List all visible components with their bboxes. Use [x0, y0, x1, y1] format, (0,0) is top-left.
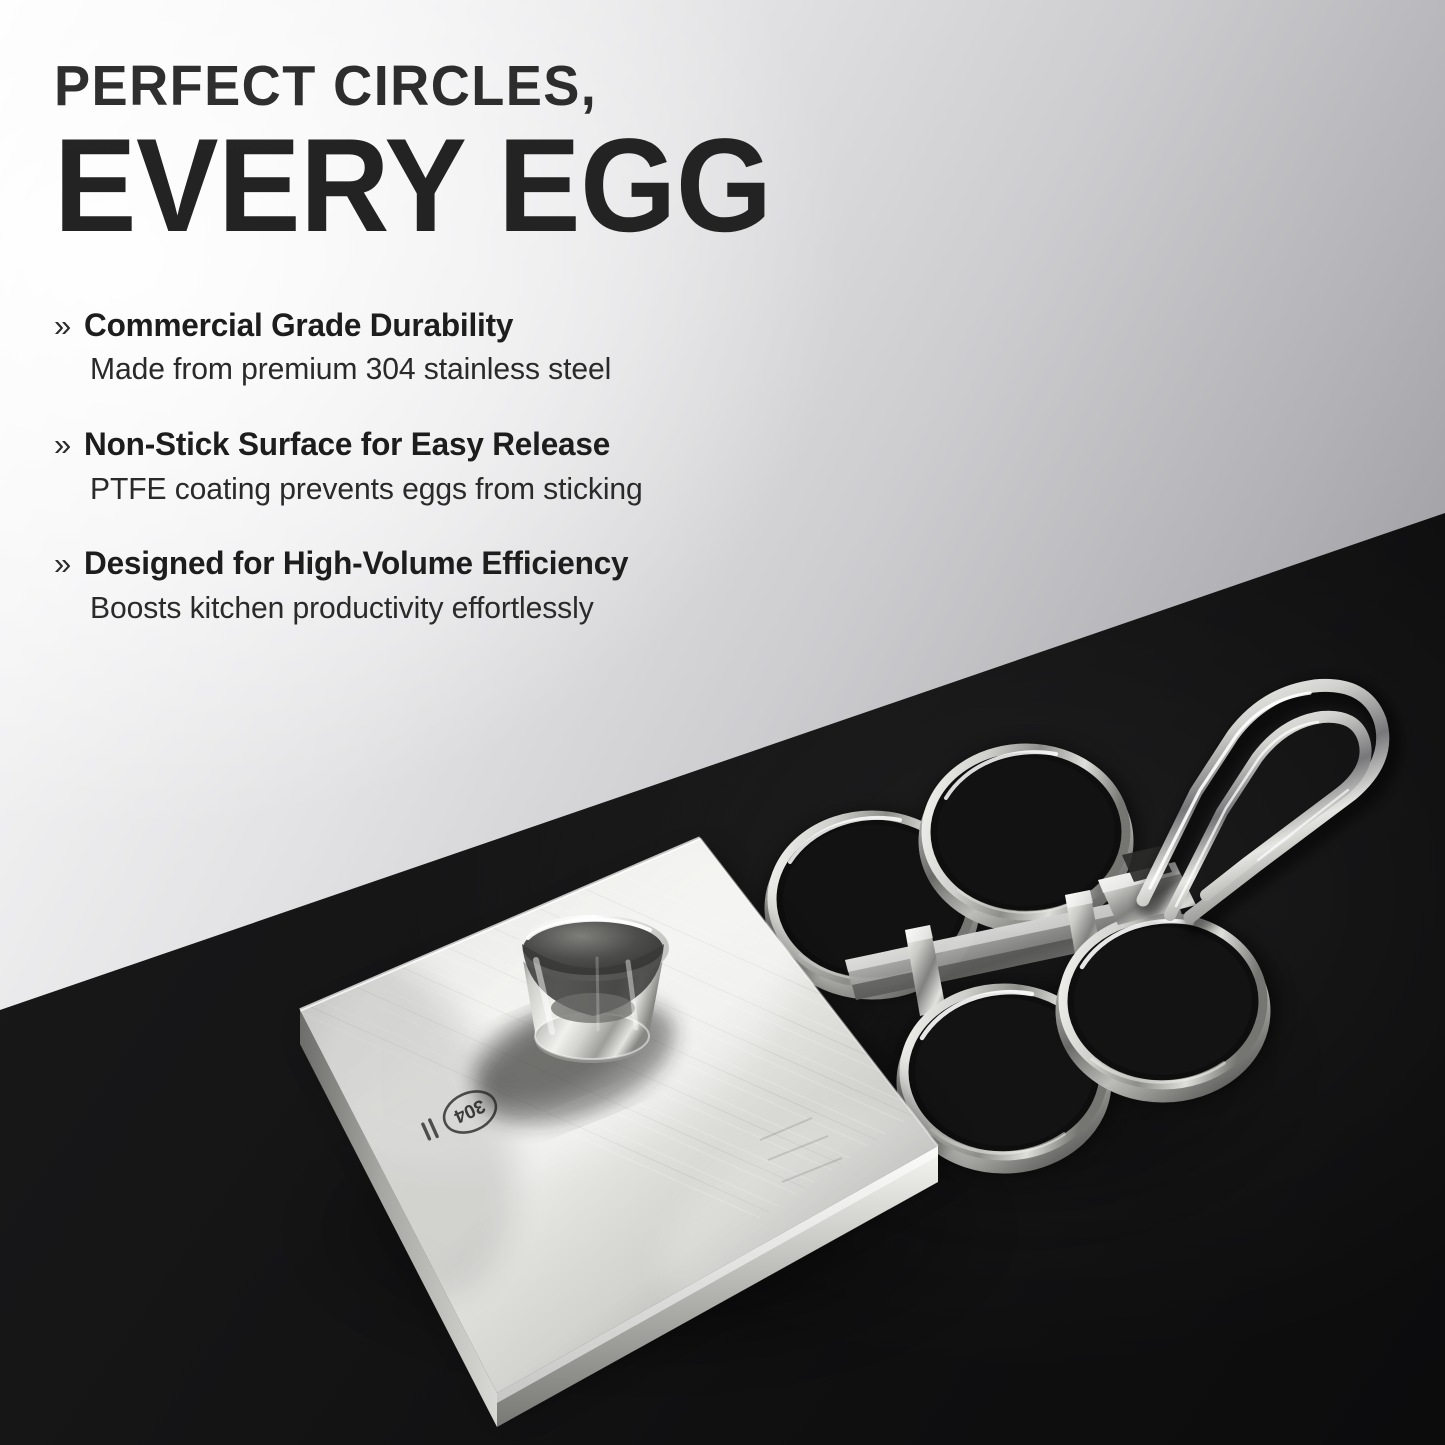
feature-heading: » Non-Stick Surface for Easy Release [54, 426, 934, 462]
feature-subtitle: PTFE coating prevents eggs from sticking [90, 472, 909, 507]
headline-line-1: PERFECT CIRCLES, [54, 58, 909, 115]
feature-item-durability: » Commercial Grade Durability Made from … [54, 307, 934, 387]
product-feature-image: 304 [0, 0, 1445, 1445]
feature-heading: » Designed for High-Volume Efficiency [54, 545, 934, 581]
headline-block: PERFECT CIRCLES, EVERY EGG [54, 58, 954, 251]
double-chevron-icon: » [54, 548, 84, 579]
feature-subtitle: Boosts kitchen productivity effortlessly [90, 591, 909, 626]
feature-title: Commercial Grade Durability [84, 307, 513, 343]
feature-item-efficiency: » Designed for High-Volume Efficiency Bo… [54, 545, 934, 625]
headline-line-2: EVERY EGG [54, 121, 891, 251]
feature-title: Designed for High-Volume Efficiency [84, 545, 628, 581]
double-chevron-icon: » [54, 429, 84, 460]
feature-title: Non-Stick Surface for Easy Release [84, 426, 610, 462]
feature-subtitle: Made from premium 304 stainless steel [90, 352, 909, 387]
feature-heading: » Commercial Grade Durability [54, 307, 934, 343]
feature-item-non-stick: » Non-Stick Surface for Easy Release PTF… [54, 426, 934, 506]
double-chevron-icon: » [54, 310, 84, 341]
feature-list: » Commercial Grade Durability Made from … [54, 307, 934, 664]
